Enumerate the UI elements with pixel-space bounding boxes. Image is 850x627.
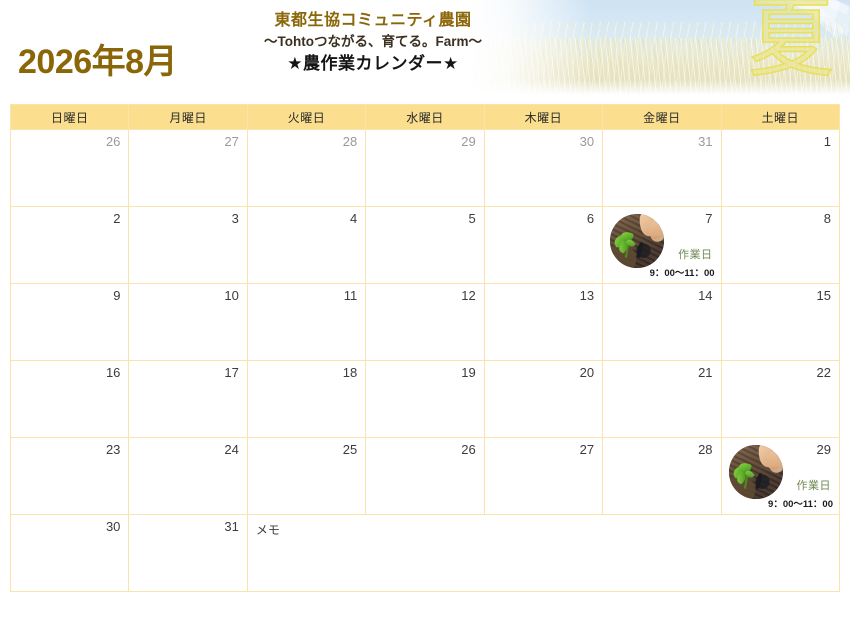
weekday-header-1: 月曜日 (129, 105, 247, 130)
day-number: 23 (106, 443, 120, 457)
calendar-week-row: 16171819202122 (11, 361, 840, 438)
day-number: 4 (350, 212, 357, 226)
planting-seedling-photo (729, 445, 783, 499)
event-time: 9：00〜11：00 (768, 496, 833, 510)
weekday-header-6: 土曜日 (721, 105, 839, 130)
calendar-week-row: 2627282930311 (11, 130, 840, 207)
day-cell-12[interactable]: 12 (366, 284, 484, 361)
day-cell-15[interactable]: 15 (721, 284, 839, 361)
calendar-header-row: 日曜日月曜日火曜日水曜日木曜日金曜日土曜日 (11, 105, 840, 130)
page-header: 夏 2026年8月 東都生協コミュニティ農園 〜Tohtoつながる、育てる。Fa… (0, 0, 850, 100)
day-number: 13 (580, 289, 594, 303)
day-number: 24 (224, 443, 238, 457)
day-number: 15 (817, 289, 831, 303)
day-cell-22[interactable]: 22 (721, 361, 839, 438)
title-block: 東都生協コミュニティ農園 〜Tohtoつながる、育てる。Farm〜 ★農作業カレ… (228, 10, 518, 76)
day-cell-3[interactable]: 3 (129, 207, 247, 284)
day-cell-11[interactable]: 11 (247, 284, 365, 361)
weekday-header-0: 日曜日 (11, 105, 129, 130)
day-cell-16[interactable]: 16 (11, 361, 129, 438)
day-number: 26 (106, 135, 120, 149)
season-kanji: 夏 (748, 0, 834, 82)
day-number: 31 (698, 135, 712, 149)
day-cell-8[interactable]: 8 (721, 207, 839, 284)
day-cell-28[interactable]: 28 (247, 130, 365, 207)
day-number: 5 (468, 212, 475, 226)
day-cell-1[interactable]: 1 (721, 130, 839, 207)
calendar-body: 2627282930311234567作業日9：00〜11：0089101112… (11, 130, 840, 592)
calendar-grid: 日曜日月曜日火曜日水曜日木曜日金曜日土曜日 262728293031123456… (10, 104, 840, 592)
day-cell-24[interactable]: 24 (129, 438, 247, 515)
day-cell-21[interactable]: 21 (603, 361, 721, 438)
banner-bottom-fade (470, 80, 850, 96)
day-number: 18 (343, 366, 357, 380)
day-number: 29 (461, 135, 475, 149)
day-cell-20[interactable]: 20 (484, 361, 602, 438)
day-cell-6[interactable]: 6 (484, 207, 602, 284)
day-cell-9[interactable]: 9 (11, 284, 129, 361)
organization-name: 東都生協コミュニティ農園 (228, 10, 518, 32)
day-number: 31 (224, 520, 238, 534)
day-cell-26[interactable]: 26 (11, 130, 129, 207)
event-label: 作業日 (797, 480, 832, 493)
day-cell-5[interactable]: 5 (366, 207, 484, 284)
day-cell-27[interactable]: 27 (484, 438, 602, 515)
day-cell-29[interactable]: 29 (366, 130, 484, 207)
day-number: 14 (698, 289, 712, 303)
calendar-week-row: 3031メモ (11, 515, 840, 592)
day-number: 22 (817, 366, 831, 380)
calendar-title: ★農作業カレンダー★ (228, 52, 518, 76)
day-number: 30 (106, 520, 120, 534)
day-cell-26[interactable]: 26 (366, 438, 484, 515)
memo-cell[interactable]: メモ (247, 515, 839, 592)
day-cell-23[interactable]: 23 (11, 438, 129, 515)
day-cell-31[interactable]: 31 (129, 515, 247, 592)
calendar-week-row: 23242526272829作業日9：00〜11：00 (11, 438, 840, 515)
event-time: 9：00〜11：00 (650, 265, 715, 279)
day-number: 30 (580, 135, 594, 149)
day-cell-29[interactable]: 29作業日9：00〜11：00 (721, 438, 839, 515)
day-number: 26 (461, 443, 475, 457)
day-cell-27[interactable]: 27 (129, 130, 247, 207)
day-cell-10[interactable]: 10 (129, 284, 247, 361)
day-cell-18[interactable]: 18 (247, 361, 365, 438)
banner-image: 夏 (470, 0, 850, 96)
day-cell-19[interactable]: 19 (366, 361, 484, 438)
day-cell-30[interactable]: 30 (484, 130, 602, 207)
calendar-week-row: 9101112131415 (11, 284, 840, 361)
day-cell-28[interactable]: 28 (603, 438, 721, 515)
day-number: 9 (113, 289, 120, 303)
day-number: 19 (461, 366, 475, 380)
day-number: 10 (224, 289, 238, 303)
day-number: 20 (580, 366, 594, 380)
day-number: 7 (705, 212, 712, 226)
day-cell-4[interactable]: 4 (247, 207, 365, 284)
day-number: 1 (824, 135, 831, 149)
day-number: 27 (580, 443, 594, 457)
weekday-header-4: 木曜日 (484, 105, 602, 130)
day-number: 25 (343, 443, 357, 457)
tagline: 〜Tohtoつながる、育てる。Farm〜 (228, 32, 518, 52)
day-number: 17 (224, 366, 238, 380)
day-number: 29 (817, 443, 831, 457)
day-number: 21 (698, 366, 712, 380)
day-number: 8 (824, 212, 831, 226)
day-cell-31[interactable]: 31 (603, 130, 721, 207)
day-number: 6 (587, 212, 594, 226)
planting-seedling-photo (610, 214, 664, 268)
day-number: 3 (232, 212, 239, 226)
day-cell-30[interactable]: 30 (11, 515, 129, 592)
weekday-header-row: 日曜日月曜日火曜日水曜日木曜日金曜日土曜日 (11, 105, 840, 130)
weekday-header-5: 金曜日 (603, 105, 721, 130)
memo-label: メモ (256, 521, 280, 538)
day-cell-14[interactable]: 14 (603, 284, 721, 361)
weekday-header-3: 水曜日 (366, 105, 484, 130)
day-number: 28 (343, 135, 357, 149)
day-cell-25[interactable]: 25 (247, 438, 365, 515)
day-cell-7[interactable]: 7作業日9：00〜11：00 (603, 207, 721, 284)
day-number: 27 (224, 135, 238, 149)
day-number: 2 (113, 212, 120, 226)
weekday-header-2: 火曜日 (247, 105, 365, 130)
day-number: 28 (698, 443, 712, 457)
day-number: 12 (461, 289, 475, 303)
page-title: 2026年8月 (18, 34, 177, 83)
day-cell-2[interactable]: 2 (11, 207, 129, 284)
day-number: 16 (106, 366, 120, 380)
event-label: 作業日 (678, 249, 713, 262)
day-number: 11 (344, 289, 358, 303)
day-cell-17[interactable]: 17 (129, 361, 247, 438)
calendar-week-row: 234567作業日9：00〜11：008 (11, 207, 840, 284)
day-cell-13[interactable]: 13 (484, 284, 602, 361)
